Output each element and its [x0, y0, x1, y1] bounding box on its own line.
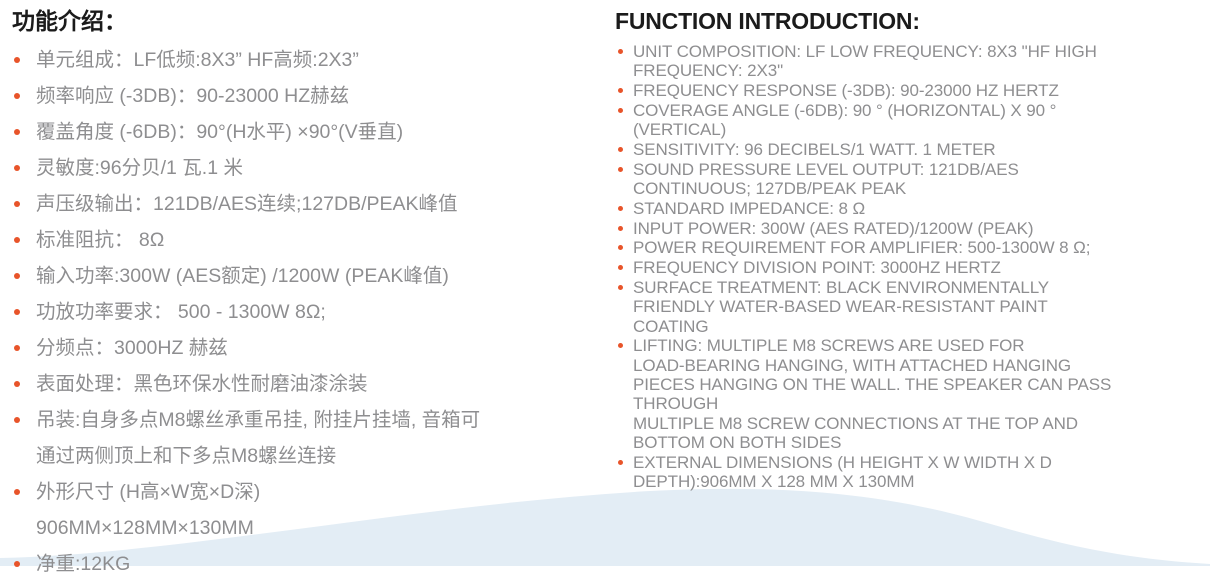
- bullet-icon: [618, 147, 623, 152]
- bullet-icon: [618, 167, 623, 172]
- list-item-text: SURFACE TREATMENT: BLACK ENVIRONMENTALLY…: [633, 278, 1049, 336]
- list-item: 净重:12KG: [10, 546, 605, 582]
- bullet-icon: [618, 108, 623, 113]
- bullet-icon: [14, 165, 20, 171]
- bullet-icon: [618, 265, 623, 270]
- list-item-text: 声压级输出：121DB/AES连续;127DB/PEAK峰值: [36, 193, 458, 215]
- list-item: 单元组成：LF低频:8X3” HF高频:2X3”: [10, 42, 605, 78]
- list-item: SENSITIVITY: 96 DECIBELS/1 WATT. 1 METER: [613, 140, 1210, 159]
- list-item: 输入功率:300W (AES额定) /1200W (PEAK峰值): [10, 258, 605, 294]
- bullet-icon: [618, 226, 623, 231]
- list-item-text: 净重:12KG: [36, 553, 130, 575]
- bullet-icon: [14, 201, 20, 207]
- list-item: 表面处理：黑色环保水性耐磨油漆涂装: [10, 366, 605, 402]
- list-item-text: INPUT POWER: 300W (AES RATED)/1200W (PEA…: [633, 219, 1033, 238]
- bullet-icon: [14, 129, 20, 135]
- bullet-icon: [14, 489, 20, 495]
- bullet-icon: [618, 245, 623, 250]
- bullet-icon: [618, 88, 623, 93]
- specification-sheet: 功能介绍： 单元组成：LF低频:8X3” HF高频:2X3” 频率响应 (-3D…: [0, 0, 1210, 566]
- list-item: 吊装:自身多点M8螺丝承重吊挂, 附挂片挂墙, 音箱可 通过两侧顶上和下多点M8…: [10, 402, 605, 474]
- list-item: FREQUENCY RESPONSE (-3DB): 90-23000 HZ H…: [613, 81, 1210, 100]
- list-item: POWER REQUIREMENT FOR AMPLIFIER: 500-130…: [613, 238, 1210, 257]
- bullet-icon: [618, 49, 623, 54]
- list-item-text: EXTERNAL DIMENSIONS (H HEIGHT X W WIDTH …: [633, 453, 1052, 491]
- list-item: 灵敏度:96分贝/1 瓦.1 米: [10, 150, 605, 186]
- list-item-text: FREQUENCY DIVISION POINT: 3000HZ HERTZ: [633, 258, 1001, 277]
- list-item: SOUND PRESSURE LEVEL OUTPUT: 121DB/AES C…: [613, 160, 1210, 199]
- list-item: 声压级输出：121DB/AES连续;127DB/PEAK峰值: [10, 186, 605, 222]
- list-item: 功放功率要求： 500 - 1300W 8Ω;: [10, 294, 605, 330]
- list-item-text: LIFTING: MULTIPLE M8 SCREWS ARE USED FOR…: [633, 336, 1111, 451]
- list-item-text: 标准阻抗： 8Ω: [36, 229, 164, 251]
- list-item: 分频点：3000HZ 赫兹: [10, 330, 605, 366]
- list-item: STANDARD IMPEDANCE: 8 Ω: [613, 199, 1210, 218]
- english-spec-list: UNIT COMPOSITION: LF LOW FREQUENCY: 8X3 …: [613, 42, 1210, 491]
- list-item: SURFACE TREATMENT: BLACK ENVIRONMENTALLY…: [613, 278, 1210, 336]
- bullet-icon: [14, 93, 20, 99]
- bullet-icon: [14, 417, 20, 423]
- list-item: COVERAGE ANGLE (-6DB): 90 ° (HORIZONTAL)…: [613, 101, 1210, 140]
- list-item-text: 分频点：3000HZ 赫兹: [36, 337, 228, 359]
- list-item: 频率响应 (-3DB)：90-23000 HZ赫兹: [10, 78, 605, 114]
- bullet-icon: [14, 345, 20, 351]
- list-item-text: SENSITIVITY: 96 DECIBELS/1 WATT. 1 METER: [633, 140, 996, 159]
- list-item-text: 吊装:自身多点M8螺丝承重吊挂, 附挂片挂墙, 音箱可 通过两侧顶上和下多点M8…: [36, 409, 480, 467]
- page-title-chinese: 功能介绍：: [10, 6, 605, 36]
- list-item: EXTERNAL DIMENSIONS (H HEIGHT X W WIDTH …: [613, 453, 1210, 492]
- list-item-text: 灵敏度:96分贝/1 瓦.1 米: [36, 157, 243, 179]
- list-item: 外形尺寸 (H高×W宽×D深) 906MM×128MM×130MM: [10, 474, 605, 546]
- english-specs-column: FUNCTION INTRODUCTION: UNIT COMPOSITION:…: [605, 0, 1210, 492]
- list-item-text: POWER REQUIREMENT FOR AMPLIFIER: 500-130…: [633, 238, 1090, 257]
- list-item-text: 表面处理：黑色环保水性耐磨油漆涂装: [36, 373, 368, 395]
- bullet-icon: [14, 273, 20, 279]
- chinese-spec-list: 单元组成：LF低频:8X3” HF高频:2X3” 频率响应 (-3DB)：90-…: [10, 42, 605, 582]
- list-item: 覆盖角度 (-6DB)：90°(H水平) ×90°(V垂直): [10, 114, 605, 150]
- bullet-icon: [14, 381, 20, 387]
- list-item: UNIT COMPOSITION: LF LOW FREQUENCY: 8X3 …: [613, 42, 1210, 81]
- bullet-icon: [618, 206, 623, 211]
- list-item-text: SOUND PRESSURE LEVEL OUTPUT: 121DB/AES C…: [633, 160, 1019, 198]
- list-item: FREQUENCY DIVISION POINT: 3000HZ HERTZ: [613, 258, 1210, 277]
- bullet-icon: [14, 309, 20, 315]
- list-item-text: 功放功率要求： 500 - 1300W 8Ω;: [36, 301, 326, 323]
- bullet-icon: [14, 561, 20, 567]
- list-item-text: 外形尺寸 (H高×W宽×D深) 906MM×128MM×130MM: [36, 481, 260, 539]
- list-item-text: 单元组成：LF低频:8X3” HF高频:2X3”: [36, 49, 359, 71]
- list-item: LIFTING: MULTIPLE M8 SCREWS ARE USED FOR…: [613, 336, 1210, 452]
- list-item-text: STANDARD IMPEDANCE: 8 Ω: [633, 199, 865, 218]
- list-item: INPUT POWER: 300W (AES RATED)/1200W (PEA…: [613, 219, 1210, 238]
- list-item-text: FREQUENCY RESPONSE (-3DB): 90-23000 HZ H…: [633, 81, 1059, 100]
- list-item-text: COVERAGE ANGLE (-6DB): 90 ° (HORIZONTAL)…: [633, 101, 1056, 139]
- list-item: 标准阻抗： 8Ω: [10, 222, 605, 258]
- bullet-icon: [618, 460, 623, 465]
- bullet-icon: [618, 285, 623, 290]
- list-item-text: 输入功率:300W (AES额定) /1200W (PEAK峰值): [36, 265, 449, 287]
- bullet-icon: [14, 57, 20, 63]
- chinese-specs-column: 功能介绍： 单元组成：LF低频:8X3” HF高频:2X3” 频率响应 (-3D…: [0, 0, 605, 582]
- bullet-icon: [14, 237, 20, 243]
- list-item-text: 频率响应 (-3DB)：90-23000 HZ赫兹: [36, 85, 349, 107]
- page-title-english: FUNCTION INTRODUCTION:: [613, 6, 1210, 36]
- bullet-icon: [618, 343, 623, 348]
- list-item-text: UNIT COMPOSITION: LF LOW FREQUENCY: 8X3 …: [633, 42, 1097, 80]
- list-item-text: 覆盖角度 (-6DB)：90°(H水平) ×90°(V垂直): [36, 121, 403, 143]
